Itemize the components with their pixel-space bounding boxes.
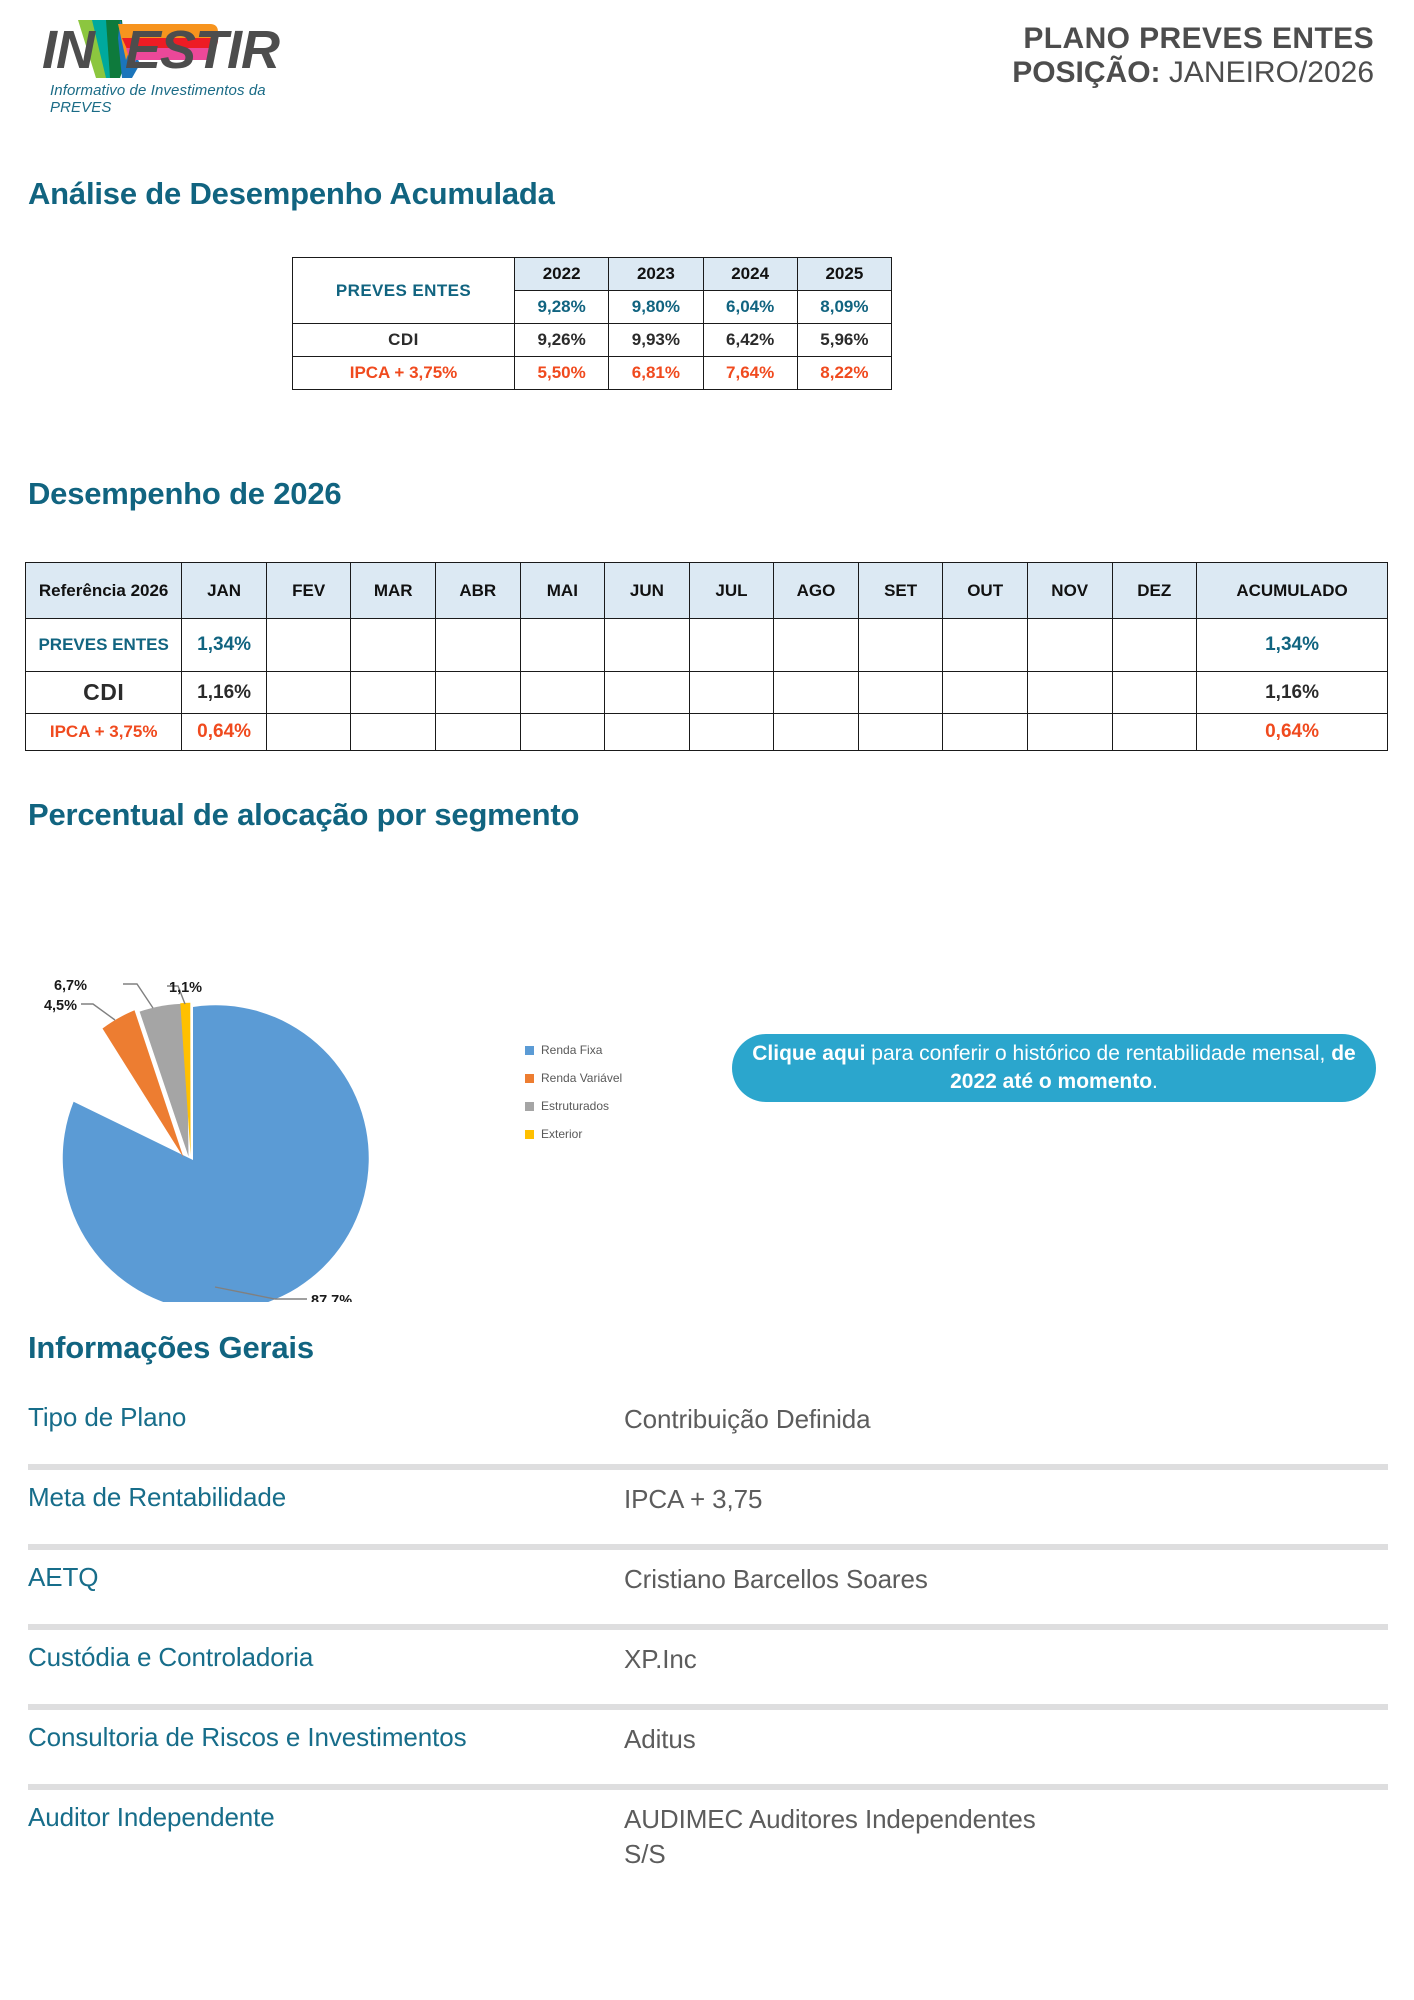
cell-cdi-dez — [1112, 672, 1197, 714]
cdi-2022: 9,26% — [515, 324, 609, 357]
leader-line-estruturados — [123, 984, 153, 1008]
logo-mark-icon: IN ESTIR — [22, 8, 312, 84]
cell-cdi-mai — [520, 672, 605, 714]
cell-cdi-abr — [436, 672, 521, 714]
cell-cdi-nov — [1027, 672, 1112, 714]
month-header-jun: JUN — [605, 563, 690, 619]
legend-item-renda-variavel: Renda Variável — [525, 1064, 622, 1092]
info-row-aetq: AETQ Cristiano Barcellos Soares — [28, 1550, 1388, 1630]
legend-swatch-renda-variavel — [525, 1074, 534, 1083]
month-header-set: SET — [858, 563, 943, 619]
info-row-auditor-independente: Auditor Independente AUDIMEC Auditores I… — [28, 1790, 1388, 1908]
legend-item-renda-fixa: Renda Fixa — [525, 1036, 622, 1064]
month-header-jul: JUL — [689, 563, 774, 619]
accumulated-header: ACUMULADO — [1197, 563, 1388, 619]
legend-label-estruturados: Estruturados — [541, 1099, 609, 1113]
info-value: XP.Inc — [624, 1642, 697, 1677]
cdi-2024: 6,42% — [703, 324, 797, 357]
ipca-2025: 8,22% — [797, 357, 891, 390]
row-label-cdi: CDI — [293, 324, 515, 357]
position-label: POSIÇÃO: — [1012, 56, 1160, 89]
row-label-preves: PREVES ENTES — [26, 619, 182, 672]
month-header-ago: AGO — [774, 563, 859, 619]
cta-text: Clique aqui para conferir o histórico de… — [732, 1040, 1376, 1095]
legend-item-estruturados: Estruturados — [525, 1092, 622, 1120]
pie-label-estruturados: 6,7% — [54, 978, 87, 994]
legend-label-renda-fixa: Renda Fixa — [541, 1043, 602, 1057]
cell-preves-mar — [351, 619, 436, 672]
cell-ipca-mai — [520, 714, 605, 751]
cell-ipca-mar — [351, 714, 436, 751]
preves-2022: 9,28% — [515, 291, 609, 324]
cell-cdi-ago — [774, 672, 859, 714]
cell-ipca-nov — [1027, 714, 1112, 751]
month-header-fev: FEV — [266, 563, 351, 619]
cell-ipca-abr — [436, 714, 521, 751]
pie-legend: Renda Fixa Renda Variável Estruturados E… — [525, 1036, 622, 1148]
cell-preves-set — [858, 619, 943, 672]
preves-2025: 8,09% — [797, 291, 891, 324]
cell-ipca-jun — [605, 714, 690, 751]
cell-ipca-out — [943, 714, 1028, 751]
general-info-list: Tipo de Plano Contribuição Definida Meta… — [28, 1390, 1388, 1908]
legend-swatch-exterior — [525, 1130, 534, 1139]
table-row: IPCA + 3,75% 0,64% 0,64% — [26, 714, 1388, 751]
header-title-block: PLANO PREVES ENTES POSIÇÃO: JANEIRO/2026 — [1012, 22, 1374, 89]
cell-preves-dez — [1112, 619, 1197, 672]
preves-2024: 6,04% — [703, 291, 797, 324]
info-key: AETQ — [28, 1562, 98, 1593]
row-label-ipca: IPCA + 3,75% — [26, 714, 182, 751]
info-row-meta-de-rentabilidade: Meta de Rentabilidade IPCA + 3,75 — [28, 1470, 1388, 1550]
section-title-alocacao: Percentual de alocação por segmento — [28, 797, 579, 833]
ref-header: Referência 2026 — [26, 563, 182, 619]
table-header-row: Referência 2026 JAN FEV MAR ABR MAI JUN … — [26, 563, 1388, 619]
info-key: Auditor Independente — [28, 1802, 275, 1833]
month-header-mar: MAR — [351, 563, 436, 619]
section-title-informacoes: Informações Gerais — [28, 1330, 314, 1366]
cell-preves-acumulado: 1,34% — [1197, 619, 1388, 672]
cell-cdi-fev — [266, 672, 351, 714]
month-header-abr: ABR — [436, 563, 521, 619]
row-label-preves: PREVES ENTES — [293, 258, 515, 324]
legend-item-exterior: Exterior — [525, 1120, 622, 1148]
position-line: POSIÇÃO: JANEIRO/2026 — [1012, 56, 1374, 90]
cdi-2025: 5,96% — [797, 324, 891, 357]
cell-preves-mai — [520, 619, 605, 672]
cell-ipca-set — [858, 714, 943, 751]
legend-swatch-renda-fixa — [525, 1046, 534, 1055]
cell-preves-nov — [1027, 619, 1112, 672]
accumulated-performance-table: PREVES ENTES 2022 2023 2024 2025 9,28% 9… — [292, 257, 892, 390]
svg-text:IN: IN — [42, 20, 96, 80]
year-header-2024: 2024 — [703, 258, 797, 291]
cdi-2023: 9,93% — [609, 324, 703, 357]
cell-preves-abr — [436, 619, 521, 672]
info-value: IPCA + 3,75 — [624, 1482, 762, 1517]
cell-ipca-acumulado: 0,64% — [1197, 714, 1388, 751]
ipca-2023: 6,81% — [609, 357, 703, 390]
cta-end: . — [1152, 1070, 1158, 1093]
table-row: PREVES ENTES 2022 2023 2024 2025 — [293, 258, 892, 291]
row-label-cdi: CDI — [26, 672, 182, 714]
cell-preves-jul — [689, 619, 774, 672]
year-header-2025: 2025 — [797, 258, 891, 291]
cell-preves-jun — [605, 619, 690, 672]
info-value: Aditus — [624, 1722, 696, 1757]
info-row-tipo-de-plano: Tipo de Plano Contribuição Definida — [28, 1390, 1388, 1470]
plan-title: PLANO PREVES ENTES — [1012, 22, 1374, 56]
table-row: CDI 9,26% 9,93% 6,42% 5,96% — [293, 324, 892, 357]
month-header-nov: NOV — [1027, 563, 1112, 619]
row-label-ipca: IPCA + 3,75% — [293, 357, 515, 390]
info-value: Contribuição Definida — [624, 1402, 871, 1437]
leader-line-renda-variavel — [81, 1004, 115, 1020]
pie-slice-renda-fixa — [63, 1005, 369, 1302]
legend-label-renda-variavel: Renda Variável — [541, 1071, 622, 1085]
cell-preves-jan: 1,34% — [182, 619, 267, 672]
legend-label-exterior: Exterior — [541, 1127, 582, 1141]
cell-ipca-fev — [266, 714, 351, 751]
cta-mid-2: rentabilidade mensal, — [1126, 1042, 1331, 1065]
investir-logo: IN ESTIR Informativo de Investimentos da… — [22, 8, 322, 108]
section-title-analise: Análise de Desempenho Acumulada — [28, 176, 555, 212]
cell-cdi-out — [943, 672, 1028, 714]
monthly-performance-table: Referência 2026 JAN FEV MAR ABR MAI JUN … — [25, 562, 1388, 751]
cell-cdi-jul — [689, 672, 774, 714]
info-value: AUDIMEC Auditores Independentes S/S — [624, 1802, 1044, 1872]
cell-cdi-mar — [351, 672, 436, 714]
table-row: PREVES ENTES 1,34% 1,34% — [26, 619, 1388, 672]
page-header: IN ESTIR Informativo de Investimentos da… — [0, 0, 1414, 125]
newsletter-page: IN ESTIR Informativo de Investimentos da… — [0, 0, 1414, 2000]
month-header-out: OUT — [943, 563, 1028, 619]
cell-ipca-ago — [774, 714, 859, 751]
info-row-consultoria-de-riscos-e-investimentos: Consultoria de Riscos e Investimentos Ad… — [28, 1710, 1388, 1790]
legend-swatch-estruturados — [525, 1102, 534, 1111]
info-key: Custódia e Controladoria — [28, 1642, 313, 1673]
cell-ipca-jul — [689, 714, 774, 751]
section-title-desempenho: Desempenho de 2026 — [28, 476, 341, 512]
cell-cdi-jan: 1,16% — [182, 672, 267, 714]
logo-tagline: Informativo de Investimentos da PREVES — [50, 82, 322, 116]
month-header-mai: MAI — [520, 563, 605, 619]
cell-cdi-set — [858, 672, 943, 714]
cta-mid-1: para conferir o histórico de — [865, 1042, 1125, 1065]
cell-cdi-acumulado: 1,16% — [1197, 672, 1388, 714]
table-row: IPCA + 3,75% 5,50% 6,81% 7,64% 8,22% — [293, 357, 892, 390]
ipca-2022: 5,50% — [515, 357, 609, 390]
month-header-dez: DEZ — [1112, 563, 1197, 619]
preves-2023: 9,80% — [609, 291, 703, 324]
pie-label-exterior: 1,1% — [169, 980, 202, 996]
info-value: Cristiano Barcellos Soares — [624, 1562, 928, 1597]
cell-ipca-dez — [1112, 714, 1197, 751]
pie-label-renda-fixa: 87,7% — [311, 1293, 352, 1302]
position-value: JANEIRO/2026 — [1169, 56, 1374, 89]
cell-preves-out — [943, 619, 1028, 672]
ipca-2024: 7,64% — [703, 357, 797, 390]
cell-cdi-jun — [605, 672, 690, 714]
year-header-2023: 2023 — [609, 258, 703, 291]
cell-preves-fev — [266, 619, 351, 672]
cell-preves-ago — [774, 619, 859, 672]
cell-ipca-jan: 0,64% — [182, 714, 267, 751]
info-row-custodia-e-controladoria: Custódia e Controladoria XP.Inc — [28, 1630, 1388, 1710]
month-header-jan: JAN — [182, 563, 267, 619]
table-row: CDI 1,16% 1,16% — [26, 672, 1388, 714]
year-header-2022: 2022 — [515, 258, 609, 291]
pie-label-renda-variavel: 4,5% — [44, 998, 77, 1014]
svg-text:ESTIR: ESTIR — [125, 20, 280, 80]
cta-bold-1: Clique aqui — [752, 1042, 865, 1065]
info-key: Consultoria de Riscos e Investimentos — [28, 1722, 467, 1753]
info-key: Tipo de Plano — [28, 1402, 186, 1433]
historico-rentabilidade-button[interactable]: Clique aqui para conferir o histórico de… — [732, 1034, 1376, 1102]
info-key: Meta de Rentabilidade — [28, 1482, 286, 1513]
